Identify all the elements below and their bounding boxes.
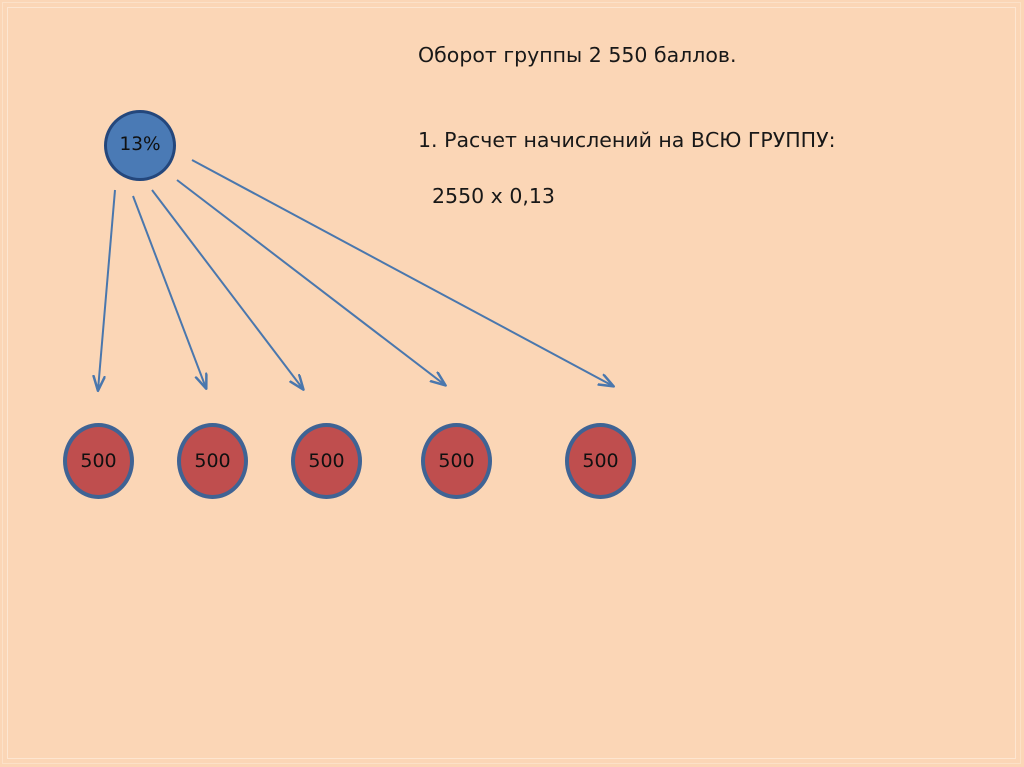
arrow-connector-3 [152, 190, 303, 389]
member-node-5[interactable]: 500 [565, 423, 636, 499]
member-node-2[interactable]: 500 [177, 423, 248, 499]
member-node-2-label: 500 [194, 452, 230, 471]
member-node-5-label: 500 [582, 452, 618, 471]
member-node-4[interactable]: 500 [421, 423, 492, 499]
arrow-connector-4 [177, 180, 445, 385]
member-node-3-label: 500 [308, 452, 344, 471]
arrow-connector-2 [133, 196, 206, 388]
member-node-1[interactable]: 500 [63, 423, 134, 499]
group-turnover-percent-node[interactable]: 13% [104, 110, 176, 181]
arrow-connector-1 [98, 190, 115, 390]
member-node-3[interactable]: 500 [291, 423, 362, 499]
calculation-step-label: 1. Расчет начислений на ВСЮ ГРУППУ: [418, 128, 836, 152]
member-node-4-label: 500 [438, 452, 474, 471]
calculation-formula: 2550 х 0,13 [432, 184, 555, 208]
member-node-1-label: 500 [80, 452, 116, 471]
page-title: Оборот группы 2 550 баллов. [418, 43, 737, 67]
root-node-label: 13% [119, 136, 160, 155]
slide-canvas: Оборот группы 2 550 баллов. 1. Расчет на… [0, 0, 1024, 767]
